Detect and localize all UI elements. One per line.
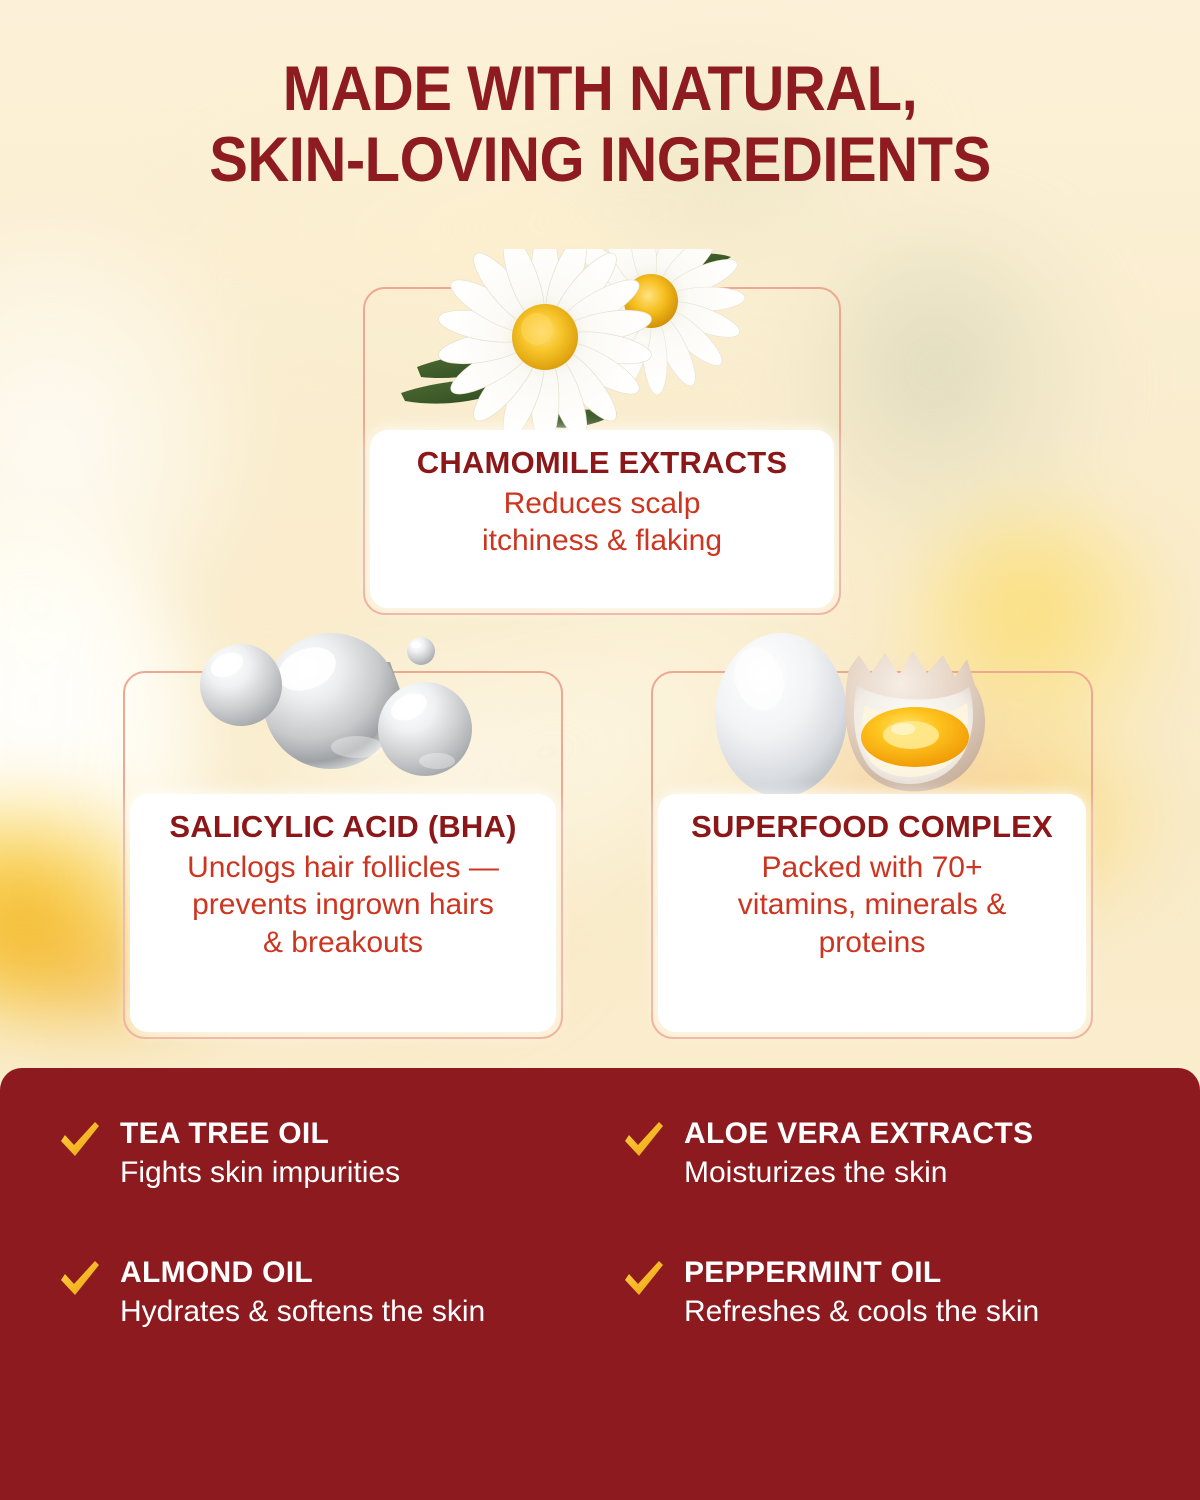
benefit-description: Moisturizes the skin bbox=[684, 1154, 1142, 1192]
page-title: MADE WITH NATURAL, SKIN-LOVING INGREDIEN… bbox=[48, 54, 1152, 195]
benefit-item: TEA TREE OIL Fights skin impurities bbox=[58, 1116, 578, 1193]
salicylic-acid-card-description: Unclogs hair follicles — prevents ingrow… bbox=[140, 849, 546, 962]
benefit-description: Hydrates & softens the skin bbox=[120, 1293, 578, 1331]
benefit-item: ALOE VERA EXTRACTS Moisturizes the skin bbox=[622, 1116, 1142, 1193]
chamomile-card-title: CHAMOMILE EXTRACTS bbox=[380, 446, 824, 481]
benefit-name: ALMOND OIL bbox=[120, 1256, 313, 1289]
benefit-text: PEPPERMINT OIL Refreshes & cools the ski… bbox=[684, 1255, 1142, 1332]
benefit-name: TEA TREE OIL bbox=[120, 1117, 329, 1150]
ingredient-card-superfood-complex: SUPERFOOD COMPLEX Packed with 70+ vitami… bbox=[651, 671, 1093, 1039]
ingredient-card-salicylic-acid: BHA SALICYLIC ACID (BHA) Unclogs hair fo… bbox=[123, 671, 563, 1039]
benefit-text: TEA TREE OIL Fights skin impurities bbox=[120, 1116, 578, 1193]
superfood-card-panel: SUPERFOOD COMPLEX Packed with 70+ vitami… bbox=[658, 794, 1086, 1032]
benefits-panel: TEA TREE OIL Fights skin impurities ALOE… bbox=[0, 1068, 1200, 1500]
check-mark-icon bbox=[58, 1120, 102, 1164]
check-mark-icon bbox=[622, 1259, 666, 1303]
check-mark-icon bbox=[622, 1120, 666, 1164]
superfood-card-title: SUPERFOOD COMPLEX bbox=[668, 810, 1076, 845]
benefit-item: PEPPERMINT OIL Refreshes & cools the ski… bbox=[622, 1255, 1142, 1332]
ingredient-card-chamomile: CHAMOMILE EXTRACTS Reduces scalp itchine… bbox=[363, 287, 841, 615]
chamomile-card-description: Reduces scalp itchiness & flaking bbox=[380, 485, 824, 560]
benefit-text: ALMOND OIL Hydrates & softens the skin bbox=[120, 1255, 578, 1332]
chamomile-card-panel: CHAMOMILE EXTRACTS Reduces scalp itchine… bbox=[370, 430, 834, 608]
benefit-item: ALMOND OIL Hydrates & softens the skin bbox=[58, 1255, 578, 1332]
superfood-card-description: Packed with 70+ vitamins, minerals & pro… bbox=[668, 849, 1076, 962]
benefit-text: ALOE VERA EXTRACTS Moisturizes the skin bbox=[684, 1116, 1142, 1193]
salicylic-acid-card-panel: SALICYLIC ACID (BHA) Unclogs hair follic… bbox=[130, 794, 556, 1032]
benefit-name: PEPPERMINT OIL bbox=[684, 1256, 942, 1289]
benefits-grid: TEA TREE OIL Fights skin impurities ALOE… bbox=[58, 1116, 1142, 1332]
benefit-description: Fights skin impurities bbox=[120, 1154, 578, 1192]
benefit-description: Refreshes & cools the skin bbox=[684, 1293, 1142, 1331]
check-mark-icon bbox=[58, 1259, 102, 1303]
salicylic-acid-card-title: SALICYLIC ACID (BHA) bbox=[140, 810, 546, 845]
benefit-name: ALOE VERA EXTRACTS bbox=[684, 1117, 1033, 1150]
